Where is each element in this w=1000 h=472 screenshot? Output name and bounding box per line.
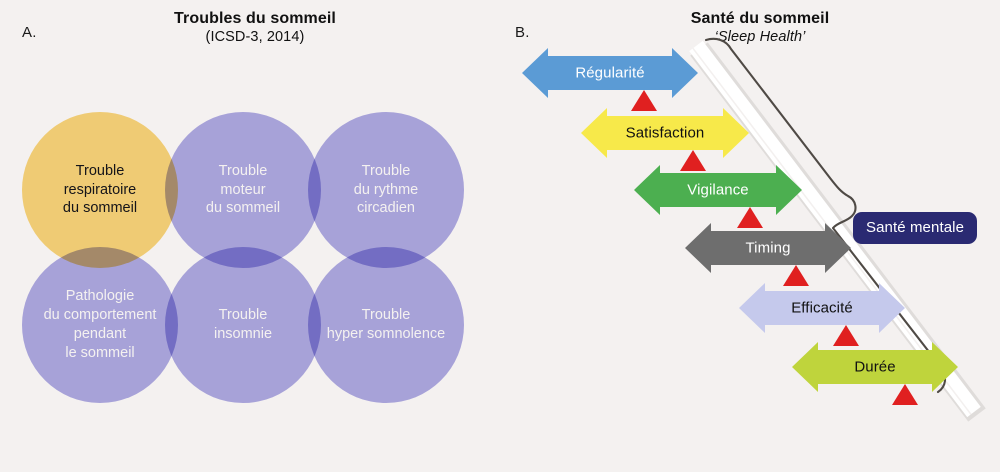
venn-circle-trouble-insomnie: Troubleinsomnie [165,247,321,403]
sleep-figure: A. Troubles du sommeil (ICSD-3, 2014) Tr… [0,0,1000,472]
arrow-satisfaction[interactable] [581,108,749,158]
venn-circle-label: Troublerespiratoiredu sommeil [57,162,143,219]
venn-circle-label: Troublehyper somnolence [321,306,452,344]
venn-circle-label: Troubledu rythmecircadien [348,162,424,219]
status-badge-mental-health: Santé mentale [853,212,977,244]
arrow-timing[interactable] [685,223,851,273]
venn-circle-label: Pathologiedu comportementpendantle somme… [38,287,163,362]
red-triangle-marker-duree [892,384,918,405]
red-triangle-marker-satisfaction [680,150,706,171]
arrow-regularite[interactable] [522,48,698,98]
venn-circle-trouble-moteur: Troublemoteurdu sommeil [165,112,321,268]
venn-circle-trouble-hyper-somnolence: Troublehyper somnolence [308,247,464,403]
venn-circle-group: Troublerespiratoiredu sommeilTroublemote… [0,0,500,472]
venn-circle-trouble-rythme-circadien: Troubledu rythmecircadien [308,112,464,268]
panel-b: B. Santé du sommeil ‘Sleep Health’ Santé… [500,0,1000,472]
venn-circle-trouble-respiratoire: Troublerespiratoiredu sommeil [22,112,178,268]
arrow-vigilance[interactable] [634,165,802,215]
red-triangle-marker-efficacite [833,325,859,346]
red-triangle-marker-timing [783,265,809,286]
red-triangle-marker-vigilance [737,207,763,228]
panel-a: A. Troubles du sommeil (ICSD-3, 2014) Tr… [0,0,500,472]
venn-circle-pathologie-comportement: Pathologiedu comportementpendantle somme… [22,247,178,403]
venn-circle-label: Troublemoteurdu sommeil [200,162,286,219]
arrow-efficacite[interactable] [739,283,905,333]
red-triangle-marker-regularite [631,90,657,111]
arrow-duree[interactable] [792,342,958,392]
venn-circle-label: Troubleinsomnie [208,306,278,344]
